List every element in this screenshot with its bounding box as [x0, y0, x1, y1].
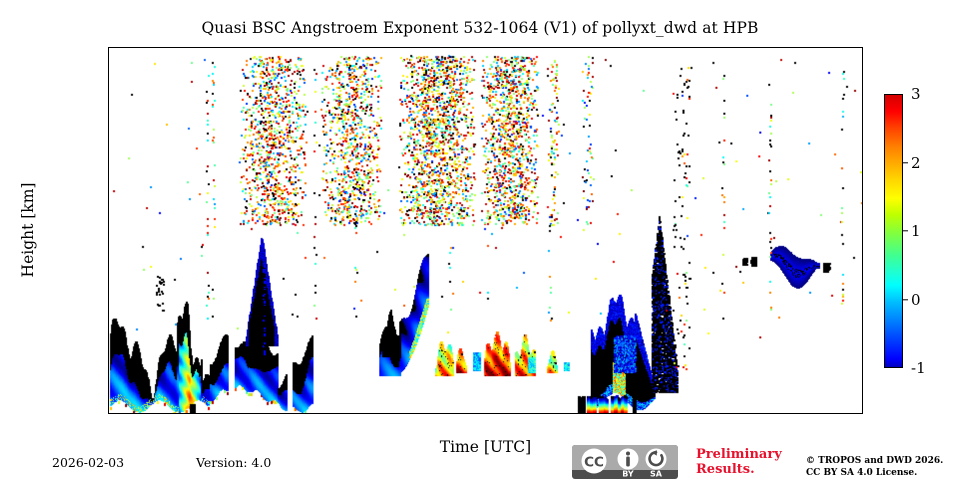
colorbar-tick-mark — [903, 230, 908, 231]
y-tick-mark — [108, 124, 109, 126]
x-tick-minor-mark — [297, 413, 298, 414]
preliminary-line-2: Results. — [696, 462, 782, 477]
plot-axes: 2468101214 04:0008:0012:0016:0020:00 — [108, 47, 863, 414]
x-tick-mark — [737, 413, 739, 414]
svg-text:BY: BY — [622, 470, 634, 479]
y-tick-minor-mark — [108, 148, 109, 149]
y-tick-minor-mark — [108, 198, 109, 199]
x-tick-minor-mark — [140, 413, 141, 414]
y-tick-mark — [108, 222, 109, 224]
x-tick-minor-mark — [266, 413, 267, 414]
page-title: Quasi BSC Angstroem Exponent 532-1064 (V… — [0, 19, 960, 37]
colorbar-tick-mark — [903, 299, 908, 300]
preliminary-line-1: Preliminary — [696, 447, 782, 462]
footer-date: 2026-02-03 — [52, 455, 124, 470]
copyright-line-1: © TROPOS and DWD 2026. — [806, 455, 943, 467]
x-tick-minor-mark — [108, 413, 109, 414]
x-tick-minor-mark — [391, 413, 392, 414]
colorbar-tick-mark — [903, 162, 908, 163]
y-axis-label: Height [km] — [19, 183, 37, 278]
y-tick-minor-mark — [108, 345, 109, 346]
preliminary-results-notice: Preliminary Results. — [696, 447, 782, 478]
y-tick-mark — [108, 74, 109, 76]
footer-version: Version: 4.0 — [196, 455, 271, 470]
colorbar-tick-label: -1 — [911, 359, 926, 377]
x-tick-minor-mark — [549, 413, 550, 414]
x-tick-minor-mark — [706, 413, 707, 414]
x-tick-minor-mark — [171, 413, 172, 414]
y-tick-mark — [108, 321, 109, 323]
heatmap-canvas — [109, 48, 862, 413]
y-tick-mark — [108, 173, 109, 175]
creative-commons-badge[interactable]: CC BY SA — [572, 445, 678, 479]
figure-canvas: Quasi BSC Angstroem Exponent 532-1064 (V… — [0, 0, 960, 480]
x-tick-minor-mark — [832, 413, 833, 414]
colorbar: -10123 — [884, 94, 903, 368]
y-tick-minor-mark — [108, 50, 109, 51]
x-tick-minor-mark — [800, 413, 801, 414]
colorbar-tick-label: 2 — [911, 154, 921, 172]
y-tick-minor-mark — [108, 296, 109, 297]
y-tick-mark — [108, 271, 109, 273]
x-tick-minor-mark — [675, 413, 676, 414]
colorbar-tick-label: 3 — [911, 85, 921, 103]
y-tick-mark — [108, 370, 109, 372]
x-tick-minor-mark — [454, 413, 455, 414]
colorbar-tick-label: 1 — [911, 222, 921, 240]
x-tick-minor-mark — [580, 413, 581, 414]
copyright-notice: © TROPOS and DWD 2026. CC BY SA 4.0 Lice… — [806, 455, 943, 479]
x-tick-mark — [486, 413, 488, 414]
copyright-line-2: CC BY SA 4.0 License. — [806, 467, 943, 479]
svg-text:CC: CC — [584, 455, 604, 471]
cc-badge-icon: CC BY SA — [572, 445, 678, 479]
x-tick-mark — [360, 413, 362, 414]
y-tick-minor-mark — [108, 99, 109, 100]
x-tick-mark — [612, 413, 614, 414]
colorbar-gradient — [884, 94, 903, 368]
x-tick-mark — [234, 413, 236, 414]
x-tick-minor-mark — [517, 413, 518, 414]
x-tick-minor-mark — [203, 413, 204, 414]
svg-text:SA: SA — [650, 470, 663, 479]
x-tick-minor-mark — [643, 413, 644, 414]
y-tick-minor-mark — [108, 247, 109, 248]
x-tick-minor-mark — [329, 413, 330, 414]
x-tick-minor-mark — [423, 413, 424, 414]
y-tick-minor-mark — [108, 395, 109, 396]
colorbar-tick-label: 0 — [911, 291, 921, 309]
x-tick-minor-mark — [769, 413, 770, 414]
